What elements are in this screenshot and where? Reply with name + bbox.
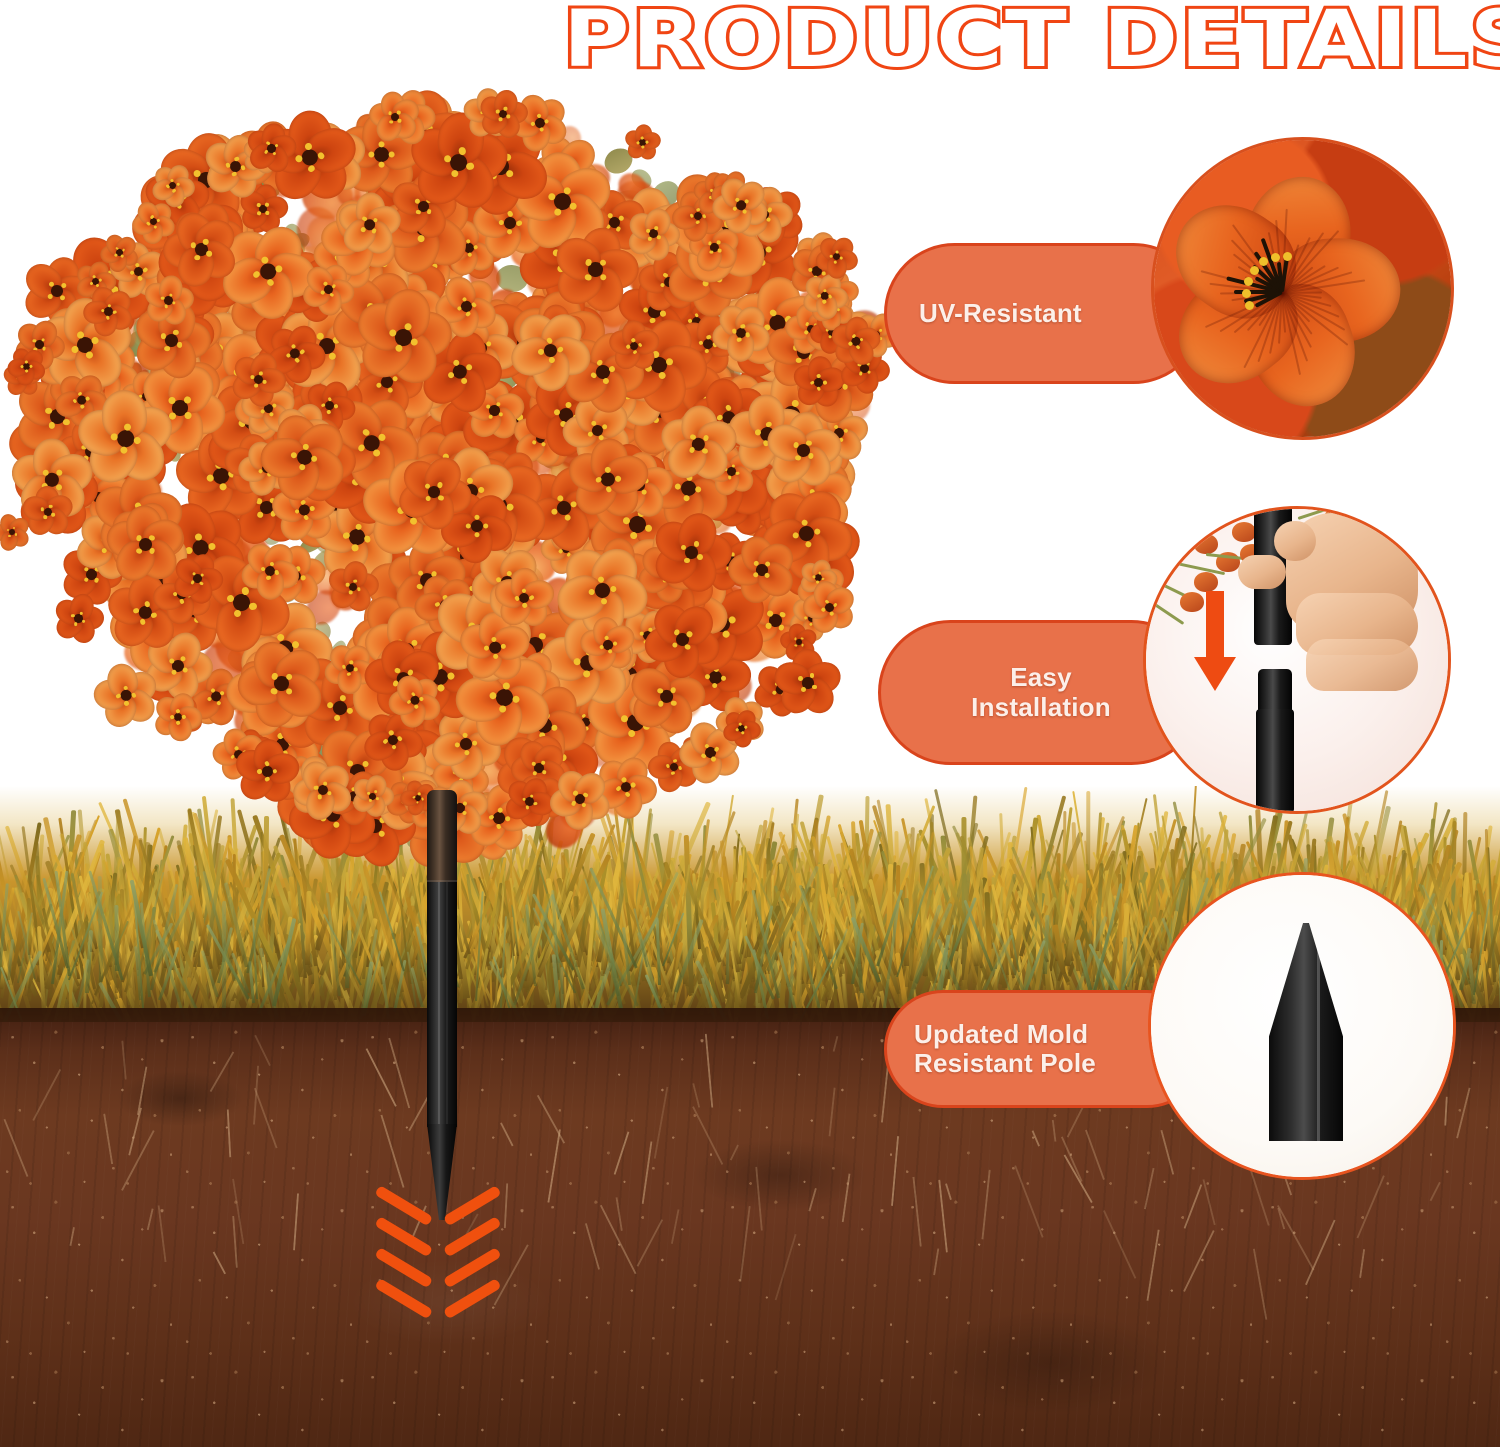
soil-root [227,1109,245,1158]
grass-blade [222,901,226,1017]
flower-stamen [357,587,361,591]
flower-stamen [180,656,185,661]
soil-root [504,1183,536,1230]
artificial-flower-bush [10,78,850,838]
product-details-infographic: UV-Resistant Easy Installation Updated M… [0,0,1500,1447]
flower-stamen [169,658,174,663]
flower-stamen [345,583,349,587]
